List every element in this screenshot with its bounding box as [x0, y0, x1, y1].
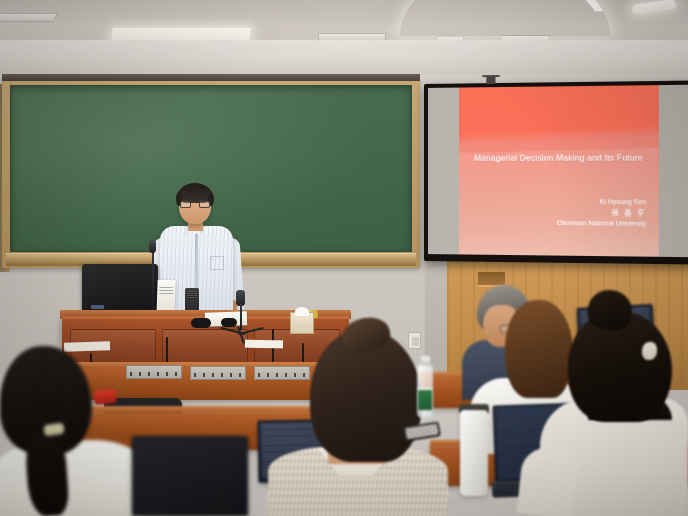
attendee-shirt — [0, 440, 144, 516]
ceiling-light-strip — [632, 0, 677, 15]
desk-microphone-base — [191, 318, 211, 328]
tissue-box — [290, 312, 314, 334]
lecture-hall-photo: Managerial Decision Making and Its Futur… — [0, 0, 688, 516]
gooseneck-mic-head — [149, 240, 156, 253]
monitor-logo — [91, 305, 104, 309]
curved-ceiling-light — [400, 0, 610, 36]
attendee-hair — [505, 300, 573, 398]
gooseneck-mic-pole — [152, 248, 154, 310]
red-object-on-desk — [93, 389, 116, 405]
bottle-cap — [421, 356, 430, 365]
slide-author-name-cjk: 孫 基 亨 — [557, 208, 647, 219]
desk-panel — [126, 365, 182, 379]
slide-author-block: Ki Hyoung Son 孫 基 亨 Chonnam National Uni… — [557, 197, 647, 230]
lecturer-glasses-icon — [180, 201, 210, 208]
power-outlet-icon — [408, 332, 421, 349]
desk-panel — [254, 366, 310, 380]
stand-microphone-pole — [240, 304, 242, 330]
projection-screen: Managerial Decision Making and Its Futur… — [424, 80, 688, 264]
thermos-tumbler — [460, 410, 488, 496]
ceiling-soffit — [0, 40, 688, 78]
screen-mount-bracket — [486, 75, 495, 84]
desk-microphone-base-2 — [221, 318, 237, 327]
screen-bezel: Managerial Decision Making and Its Futur… — [428, 85, 688, 257]
presentation-slide: Managerial Decision Making and Its Futur… — [459, 85, 659, 257]
slide-title: Managerial Decision Making and Its Futur… — [459, 153, 659, 163]
slide-affiliation: Chonnam National University — [557, 219, 647, 230]
lecturer-shirt-pocket — [210, 256, 224, 270]
podium-papers-right — [245, 340, 283, 349]
podium-papers-left — [64, 341, 110, 352]
ceiling-vent — [0, 13, 58, 22]
lecturer-hair — [177, 183, 213, 203]
desk-monitor-front-left — [132, 436, 248, 516]
podium-monitor — [82, 264, 158, 312]
slide-author-name: Ki Hyoung Son — [557, 197, 647, 208]
desk-panel — [190, 366, 246, 380]
bottle-label — [418, 388, 432, 410]
chalkboard-rail — [2, 74, 420, 81]
hair-clip — [642, 342, 657, 360]
